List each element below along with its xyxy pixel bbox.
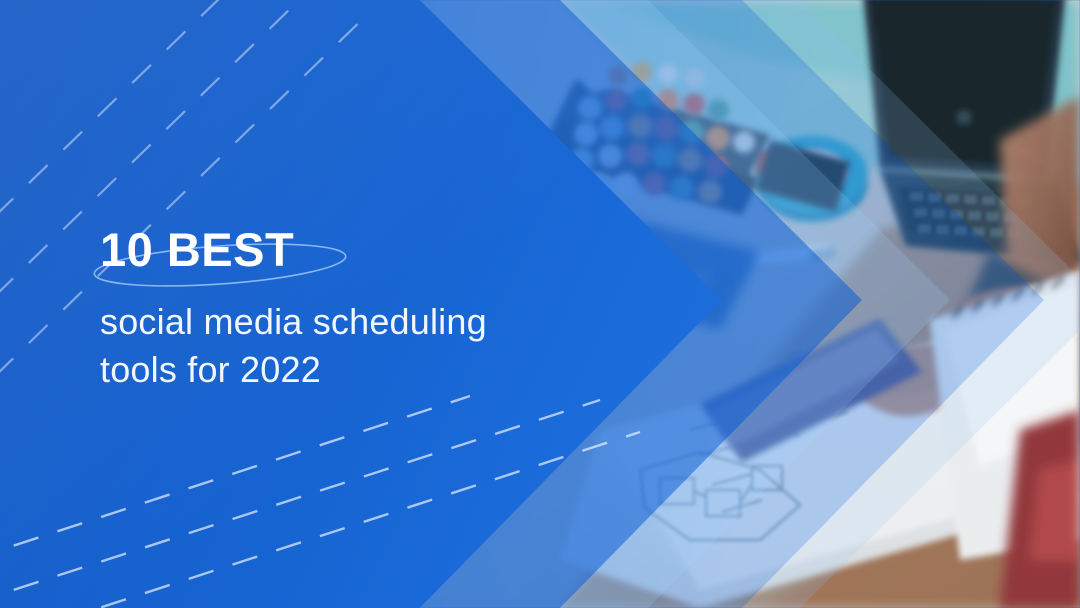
subtitle-line-2: tools for 2022 xyxy=(100,346,600,394)
subtitle-line-1: social media scheduling xyxy=(100,298,600,346)
copy-block: 10 BEST social media scheduling tools fo… xyxy=(100,222,660,394)
subtitle: social media scheduling tools for 2022 xyxy=(100,298,600,394)
headline-wrap: 10 BEST xyxy=(100,222,660,284)
promo-banner: 10 BEST social media scheduling tools fo… xyxy=(0,0,1080,608)
page-title: 10 BEST xyxy=(100,222,660,278)
